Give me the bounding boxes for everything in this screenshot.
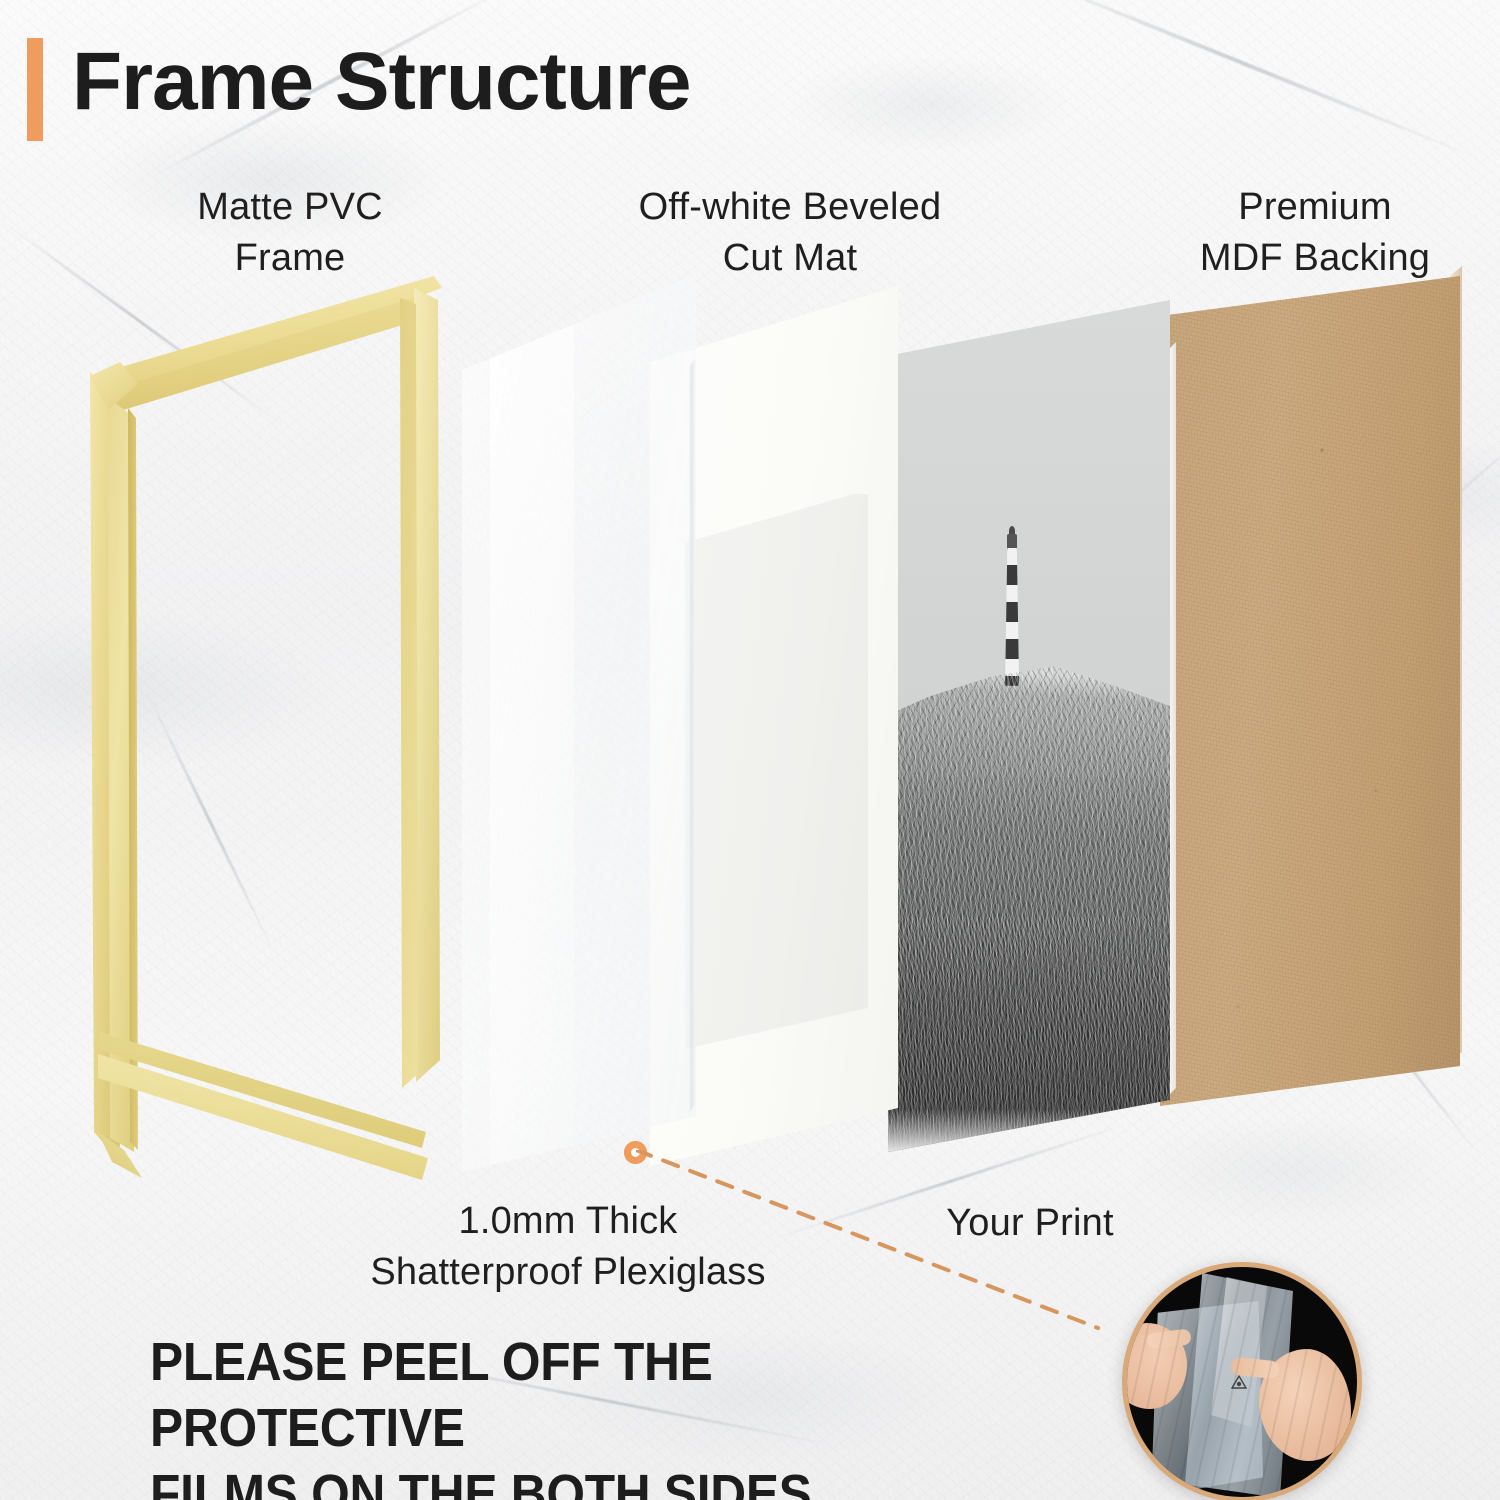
label-line-2: Shatterproof Plexiglass (370, 1251, 765, 1293)
label-matte-pvc-frame: Matte PVC Frame (120, 182, 460, 283)
label-plexiglass: 1.0mm Thick Shatterproof Plexiglass (268, 1196, 868, 1297)
layer-plexiglass (462, 274, 696, 1172)
label-line-2: Cut Mat (723, 237, 857, 279)
label-cut-mat: Off-white Beveled Cut Mat (560, 182, 1020, 283)
frame-rail-bottom (98, 1054, 446, 1186)
connector-marker-icon (624, 1141, 647, 1164)
label-your-print: Your Print (880, 1198, 1180, 1249)
mat-window-opening (680, 490, 868, 1050)
warning-text: PLEASE PEEL OFF THE PROTECTIVE FILMS ON … (150, 1330, 1033, 1500)
layer-mdf-backing (1160, 276, 1460, 1106)
infographic-canvas: Frame Structure (0, 0, 1500, 1500)
warning-line-1: PLEASE PEEL OFF THE PROTECTIVE (150, 1330, 1033, 1462)
lighthouse-icon (1003, 526, 1021, 686)
warning-line-2-prefix: FILMS ON THE (150, 1464, 511, 1500)
plexiglass-sheen (490, 274, 574, 1172)
lighthouse-photo (888, 300, 1170, 1152)
warning-line-2: FILMS ON THE BOTH SIDES (150, 1462, 1033, 1500)
label-mdf-backing: Premium MDF Backing (1130, 182, 1500, 283)
label-line-1: Premium (1238, 186, 1391, 228)
peel-film-inset-photo (1122, 1262, 1362, 1500)
label-line-2: Frame (235, 237, 346, 279)
dune-grass (888, 641, 1170, 1152)
layer-print (888, 300, 1170, 1152)
frame-rail-top-face (96, 290, 434, 418)
photo-sand (888, 1109, 1170, 1152)
warning-highlight: BOTH SIDES (511, 1462, 812, 1500)
label-line-2: MDF Backing (1200, 237, 1430, 279)
frame-stile-right (414, 282, 444, 1088)
film-logo-icon (1231, 1375, 1247, 1389)
mat-bevel (680, 490, 868, 1050)
frame-rail-bottom-face (100, 1032, 444, 1162)
label-line-1: Off-white Beveled (639, 186, 942, 228)
label-line-1: Matte PVC (197, 186, 383, 228)
layer-pvc-frame (84, 276, 446, 1186)
label-line-1: 1.0mm Thick (459, 1200, 678, 1242)
